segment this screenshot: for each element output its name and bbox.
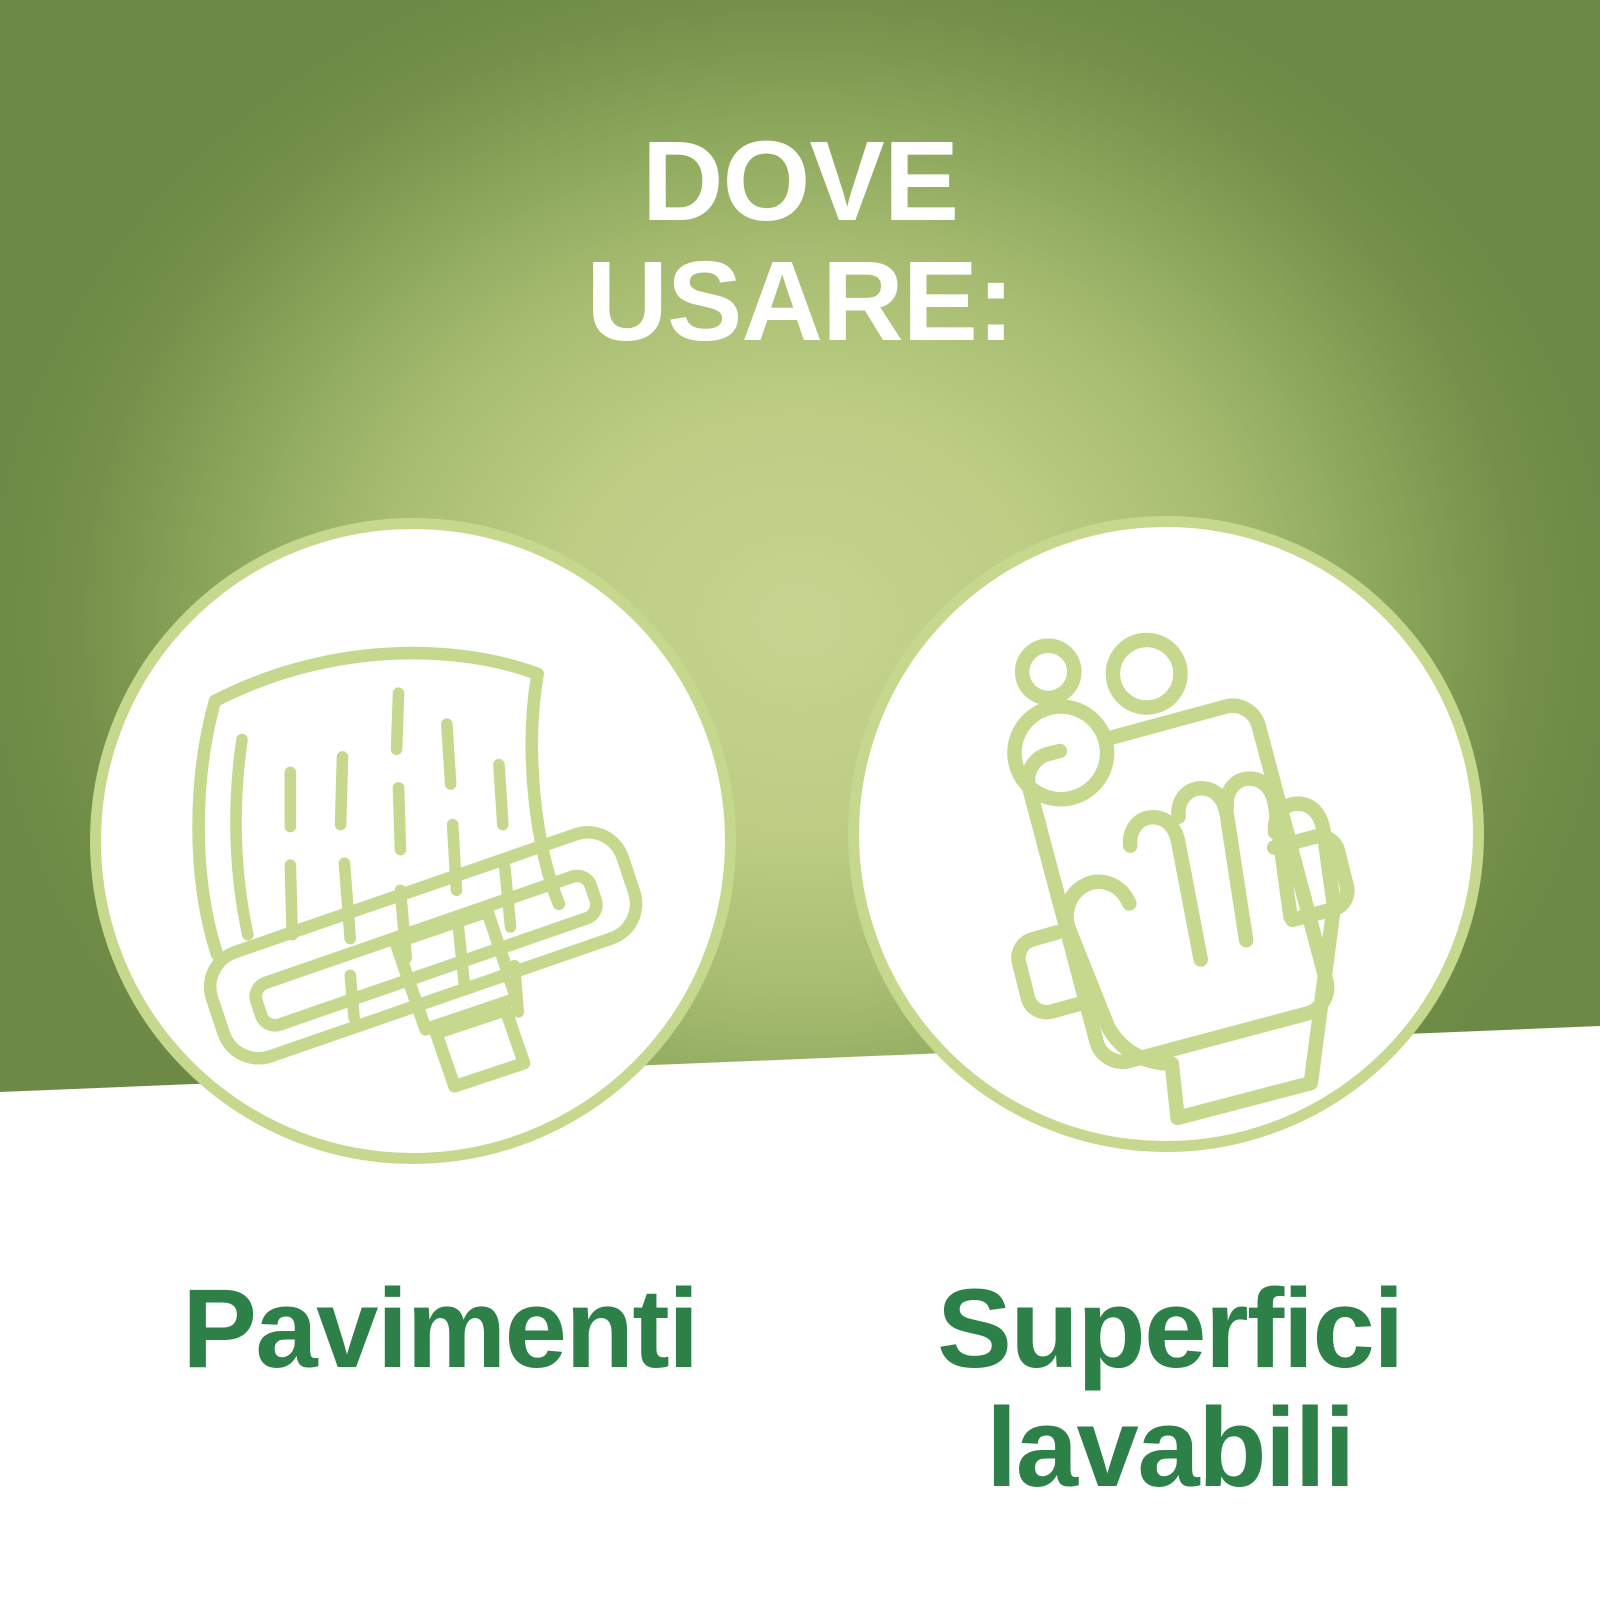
card-surfaces-caption: Superfici lavabili: [810, 1270, 1530, 1507]
mop-floor-cleaner-icon: [101, 529, 725, 1153]
card-floors-caption: Pavimenti: [60, 1270, 820, 1389]
card-surfaces-circle: [848, 516, 1484, 1152]
page-title: DOVE USARE:: [0, 122, 1600, 362]
bubble-medium-icon: [1113, 640, 1181, 708]
infographic-canvas: DOVE USARE:: [0, 0, 1600, 1600]
bubble-small-icon: [1022, 646, 1074, 698]
card-floors-circle: [90, 518, 736, 1164]
hand-wiping-surface-icon: [859, 527, 1473, 1141]
